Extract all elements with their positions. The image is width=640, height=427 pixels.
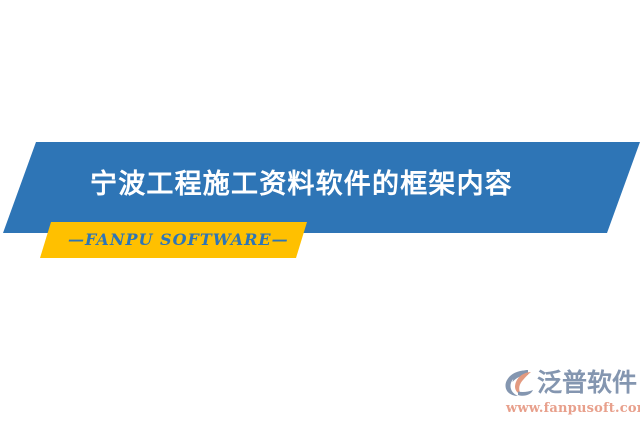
slide-canvas: 宁波工程施工资料软件的框架内容 —FANPU SOFTWARE— 泛普软件 ww… [0,0,640,427]
logo-url-text: www.fanpusoft.com [506,401,640,416]
logo-row: 泛普软件 [503,366,637,400]
banner-group [0,0,640,427]
brand-logo: 泛普软件 www.fanpusoft.com [503,366,637,418]
logo-brand-text: 泛普软件 [537,368,637,398]
page-title: 宁波工程施工资料软件的框架内容 [90,163,610,207]
fanpu-swoosh-icon [503,368,535,398]
banner-subtitle: —FANPU SOFTWARE— [68,228,298,252]
banner-shapes [0,0,640,427]
